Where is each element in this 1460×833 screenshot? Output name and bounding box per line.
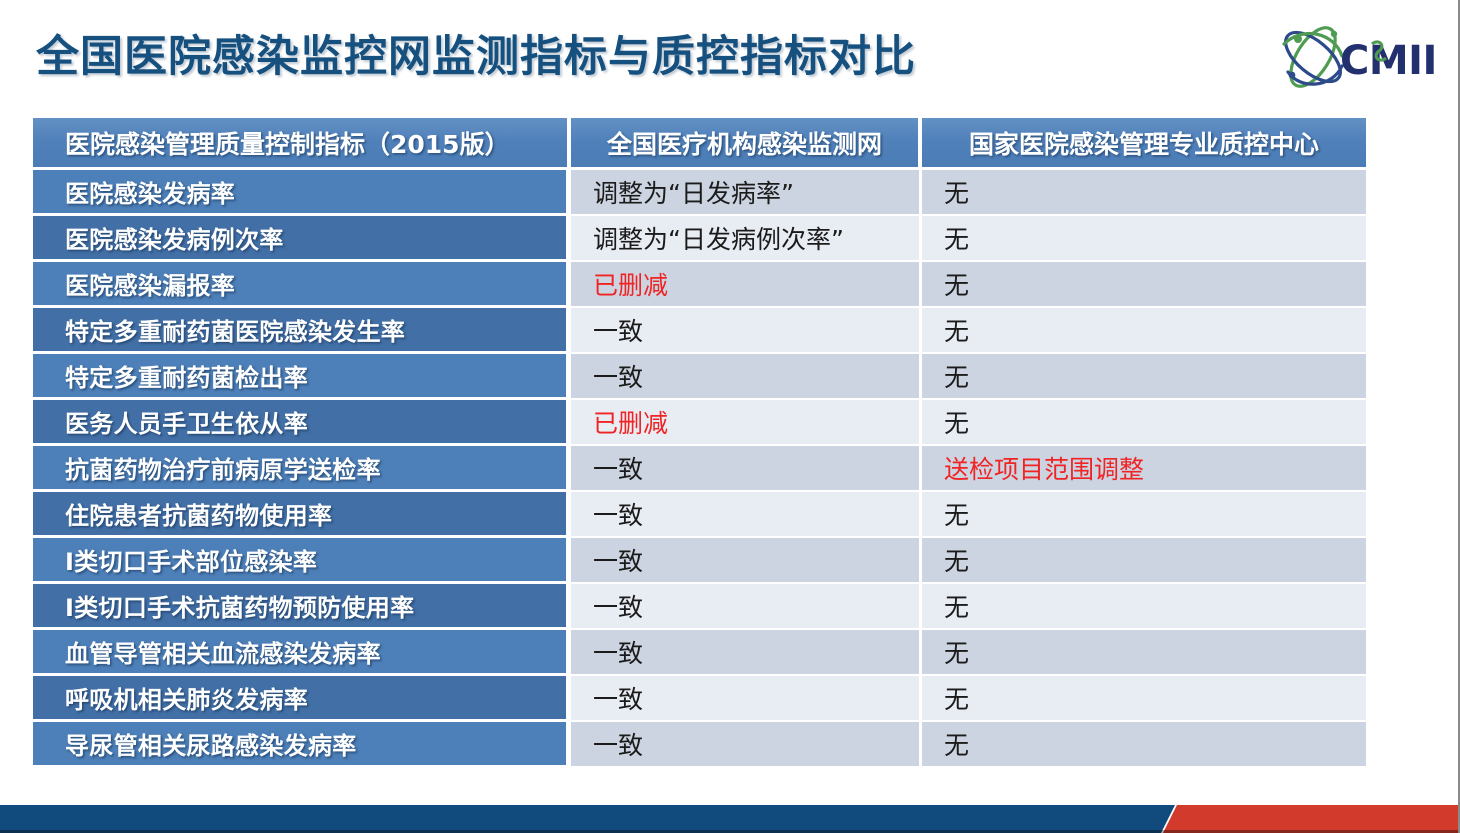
row-network: 已删减 (571, 400, 922, 446)
row-center: 无 (922, 492, 1366, 538)
page-title: 全国医院感染监控网监测指标与质控指标对比 (36, 22, 916, 84)
row-network: 一致 (571, 676, 922, 722)
table-row: 导尿管相关尿路感染发病率一致无 (33, 722, 1366, 768)
atom-orbit-icon: CMIISS (1268, 14, 1436, 100)
table-row: 特定多重耐药菌检出率一致无 (33, 354, 1366, 400)
row-network: 一致 (571, 354, 922, 400)
footer-bar-red (1163, 805, 1460, 833)
row-center: 无 (922, 538, 1366, 584)
row-indicator: 医院感染漏报率 (33, 262, 571, 308)
row-center: 无 (922, 400, 1366, 446)
footer-decoration (0, 805, 1460, 833)
row-center: 无 (922, 630, 1366, 676)
row-indicator: 血管导管相关血流感染发病率 (33, 630, 571, 676)
row-network: 已删减 (571, 262, 922, 308)
footer-bar-blue (0, 805, 1175, 833)
row-network: 一致 (571, 538, 922, 584)
row-network: 一致 (571, 446, 922, 492)
row-center: 无 (922, 262, 1366, 308)
table-body: 医院感染发病率调整为“日发病率”无 医院感染发病例次率调整为“日发病例次率”无 … (33, 170, 1366, 768)
comparison-table: 医院感染管理质量控制指标（2015版） 全国医疗机构感染监测网 国家医院感染管理… (33, 118, 1366, 768)
table-row: 医务人员手卫生依从率已删减无 (33, 400, 1366, 446)
row-center: 无 (922, 170, 1366, 216)
row-network: 一致 (571, 492, 922, 538)
table-header-row: 医院感染管理质量控制指标（2015版） 全国医疗机构感染监测网 国家医院感染管理… (33, 118, 1366, 170)
row-indicator: 医院感染发病率 (33, 170, 571, 216)
row-center: 无 (922, 354, 1366, 400)
row-center: 无 (922, 308, 1366, 354)
row-indicator: 住院患者抗菌药物使用率 (33, 492, 571, 538)
table-row: 特定多重耐药菌医院感染发生率一致无 (33, 308, 1366, 354)
table-row: 呼吸机相关肺炎发病率一致无 (33, 676, 1366, 722)
row-center: 无 (922, 584, 1366, 630)
row-network: 调整为“日发病例次率” (571, 216, 922, 262)
row-indicator: 抗菌药物治疗前病原学送检率 (33, 446, 571, 492)
table-row: I类切口手术抗菌药物预防使用率一致无 (33, 584, 1366, 630)
column-header-indicator: 医院感染管理质量控制指标（2015版） (33, 118, 571, 170)
table-row: 血管导管相关血流感染发病率一致无 (33, 630, 1366, 676)
column-header-center: 国家医院感染管理专业质控中心 (922, 118, 1366, 170)
row-indicator: 医务人员手卫生依从率 (33, 400, 571, 446)
table-row: 医院感染发病例次率调整为“日发病例次率”无 (33, 216, 1366, 262)
row-center: 无 (922, 676, 1366, 722)
row-center: 无 (922, 722, 1366, 768)
table-row: 医院感染发病率调整为“日发病率”无 (33, 170, 1366, 216)
row-center: 送检项目范围调整 (922, 446, 1366, 492)
table-row: 抗菌药物治疗前病原学送检率一致送检项目范围调整 (33, 446, 1366, 492)
row-indicator: 呼吸机相关肺炎发病率 (33, 676, 571, 722)
row-network: 一致 (571, 630, 922, 676)
row-indicator: I类切口手术抗菌药物预防使用率 (33, 584, 571, 630)
row-network: 一致 (571, 308, 922, 354)
row-indicator: 特定多重耐药菌检出率 (33, 354, 571, 400)
row-network: 一致 (571, 722, 922, 768)
table-row: 医院感染漏报率已删减无 (33, 262, 1366, 308)
row-indicator: I类切口手术部位感染率 (33, 538, 571, 584)
row-indicator: 医院感染发病例次率 (33, 216, 571, 262)
table-row: 住院患者抗菌药物使用率一致无 (33, 492, 1366, 538)
svg-text:CMIISS: CMIISS (1340, 38, 1436, 84)
column-header-network: 全国医疗机构感染监测网 (571, 118, 922, 170)
row-center: 无 (922, 216, 1366, 262)
row-network: 一致 (571, 584, 922, 630)
table-row: I类切口手术部位感染率一致无 (33, 538, 1366, 584)
row-indicator: 特定多重耐药菌医院感染发生率 (33, 308, 571, 354)
row-network: 调整为“日发病率” (571, 170, 922, 216)
cmiiss-logo: CMIISS (1268, 14, 1436, 100)
slide-canvas: 全国医院感染监控网监测指标与质控指标对比 CMIISS 医院感染管理质量控制指标… (0, 0, 1460, 833)
row-indicator: 导尿管相关尿路感染发病率 (33, 722, 571, 768)
